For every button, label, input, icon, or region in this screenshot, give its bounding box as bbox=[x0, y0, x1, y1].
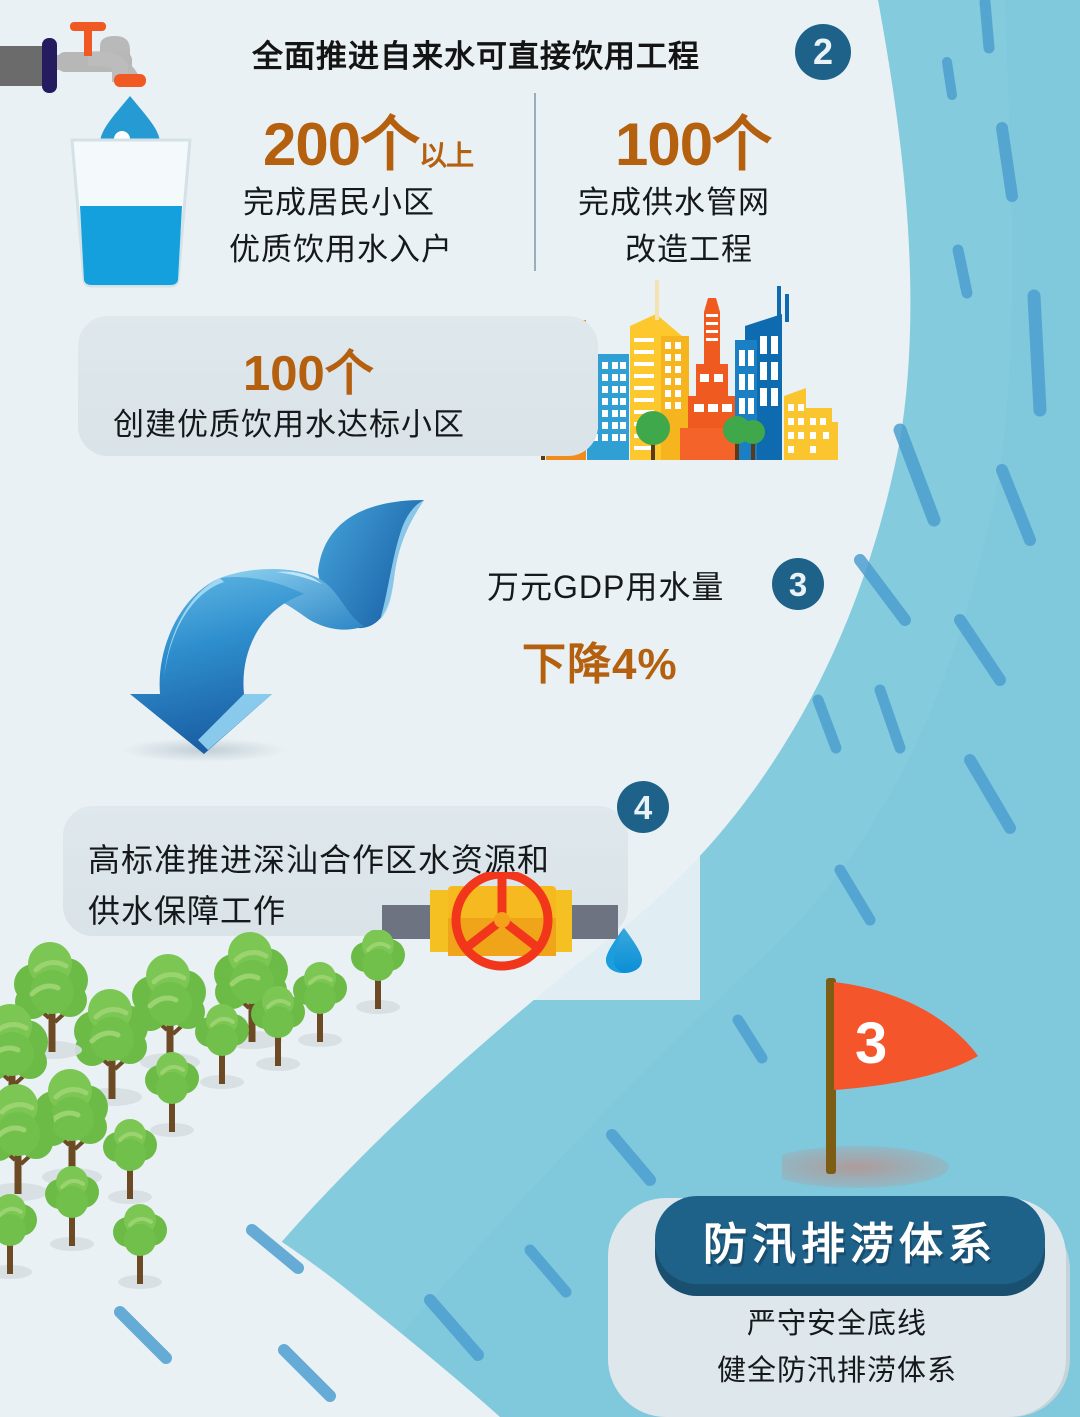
faucet-handle-stem bbox=[84, 30, 92, 56]
bottom-subtitle-line1: 严守安全底线 bbox=[608, 1300, 1066, 1342]
bottom-title-pill: 防汛排涝体系 bbox=[655, 1196, 1045, 1284]
section4-badge: 4 bbox=[617, 781, 669, 833]
section2-title: 全面推进自来水可直接饮用工程 bbox=[252, 31, 700, 76]
quality-water-card-number: 100个 bbox=[243, 334, 374, 405]
stat1-line1: 完成居民小区 bbox=[243, 177, 435, 222]
bottom-title-text: 防汛排涝体系 bbox=[703, 1208, 997, 1272]
infographic-canvas: 全面推进自来水可直接饮用工程 2 200个以上 完成居民小区 优质饮用水入户 1… bbox=[0, 0, 1080, 1417]
wall-pipe bbox=[0, 46, 44, 86]
tree-grove-icon bbox=[0, 930, 460, 1290]
gdp-label: 万元GDP用水量 bbox=[487, 562, 724, 608]
flag-ground-shadow bbox=[782, 1146, 949, 1188]
flag-marker-icon bbox=[782, 962, 1032, 1192]
pipe-collar bbox=[42, 38, 57, 93]
faucet-glass-illustration bbox=[0, 8, 220, 288]
section3-badge: 3 bbox=[772, 558, 824, 610]
glass-water bbox=[80, 206, 182, 285]
bottom-subtitle-line2: 健全防汛排涝体系 bbox=[608, 1347, 1066, 1389]
stat1-number-value: 200个 bbox=[263, 111, 419, 178]
faucet-spout-tip bbox=[114, 74, 146, 87]
stat2-number: 100个 bbox=[615, 96, 771, 183]
section2-badge: 2 bbox=[795, 24, 851, 80]
quality-water-card-text: 创建优质饮用水达标小区 bbox=[113, 399, 465, 444]
stat1-number-suffix: 以上 bbox=[419, 140, 473, 171]
stat1-line2: 优质饮用水入户 bbox=[229, 224, 453, 269]
flag-number: 3 bbox=[855, 1010, 887, 1077]
stat2-number-value: 100个 bbox=[615, 111, 771, 178]
gdp-value: 下降4% bbox=[522, 628, 678, 692]
faucet-handle-top bbox=[70, 22, 106, 31]
stat2-line1: 完成供水管网 bbox=[578, 177, 770, 222]
shenshan-line2: 供水保障工作 bbox=[88, 886, 286, 932]
water-droplet-icon bbox=[604, 926, 644, 974]
down-curve-arrow-icon bbox=[112, 482, 452, 772]
stat2-line2: 改造工程 bbox=[625, 224, 753, 269]
stat1-number: 200个以上 bbox=[263, 96, 473, 183]
stats-divider bbox=[534, 93, 536, 271]
